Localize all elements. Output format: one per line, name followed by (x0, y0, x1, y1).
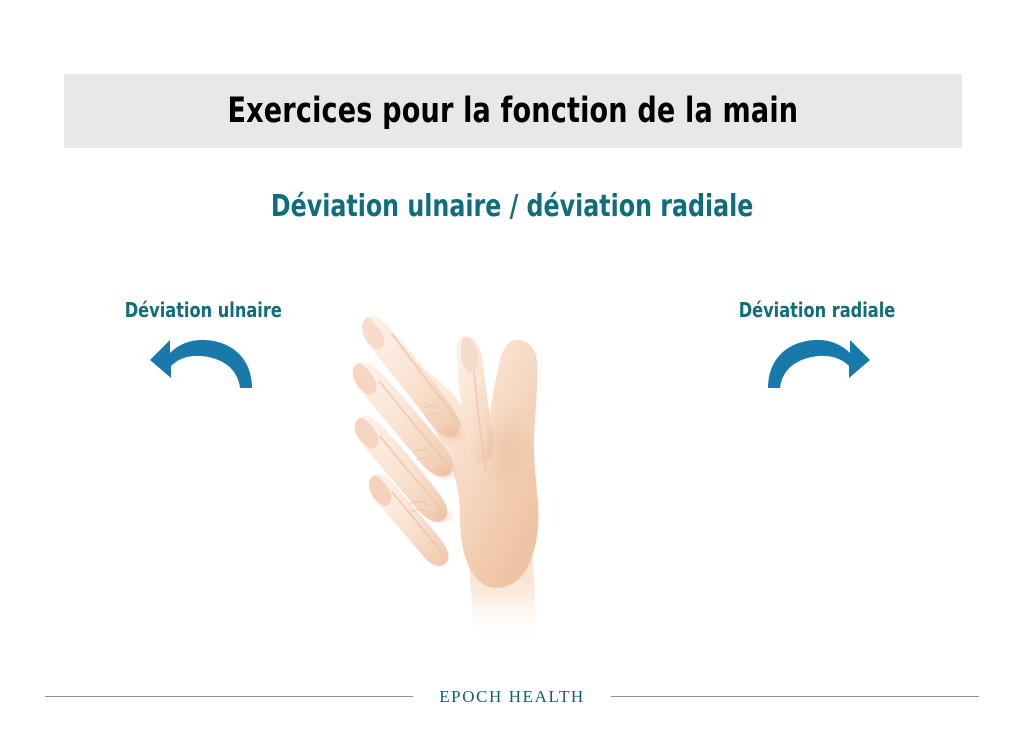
footer: EPOCH HEALTH (45, 680, 979, 712)
annotation-left-label: Déviation ulnaire (124, 298, 281, 322)
brand-name: EPOCH HEALTH (413, 688, 611, 705)
curved-arrow-right-icon (762, 334, 872, 390)
curved-arrow-left-icon (148, 334, 258, 390)
page-title: Exercices pour la fonction de la main (228, 94, 799, 129)
subtitle-row: Déviation ulnaire / déviation radiale (0, 190, 1024, 225)
footer-rule-right (611, 696, 979, 697)
slide-canvas: Exercices pour la fonction de la main Dé… (0, 0, 1024, 731)
hand-illustration (322, 312, 622, 642)
annotation-right-label: Déviation radiale (739, 298, 896, 322)
subtitle: Déviation ulnaire / déviation radiale (271, 190, 754, 225)
footer-rule-left (45, 696, 413, 697)
title-banner: Exercices pour la fonction de la main (64, 74, 962, 148)
annotation-left: Déviation ulnaire (98, 298, 308, 390)
annotation-right: Déviation radiale (712, 298, 922, 390)
